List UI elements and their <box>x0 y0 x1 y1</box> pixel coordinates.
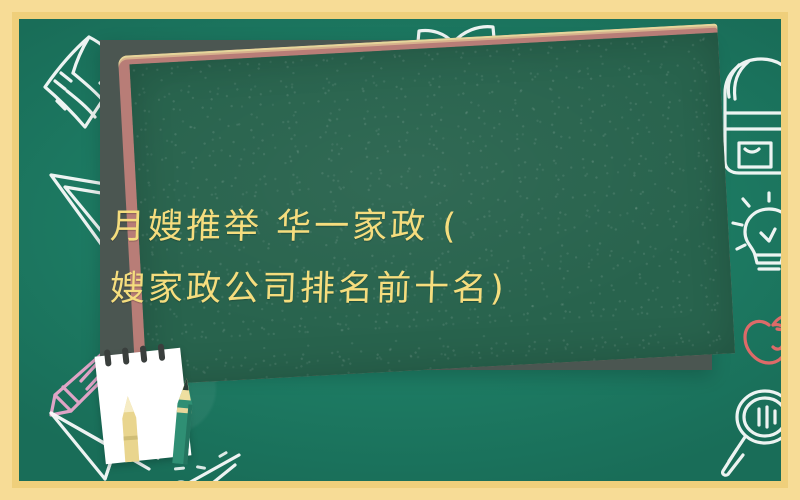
blackboard <box>100 40 712 370</box>
lightbulb-icon <box>731 187 781 279</box>
board-tilted-group <box>118 24 735 386</box>
apple-icon <box>737 311 781 367</box>
chalk-surface <box>129 33 734 385</box>
magnifier-icon <box>719 387 781 477</box>
blackboard-title-card: 月嫂推举 华一家政 ( 嫂家政公司排名前十名) <box>0 0 800 500</box>
board-frame <box>118 24 735 386</box>
